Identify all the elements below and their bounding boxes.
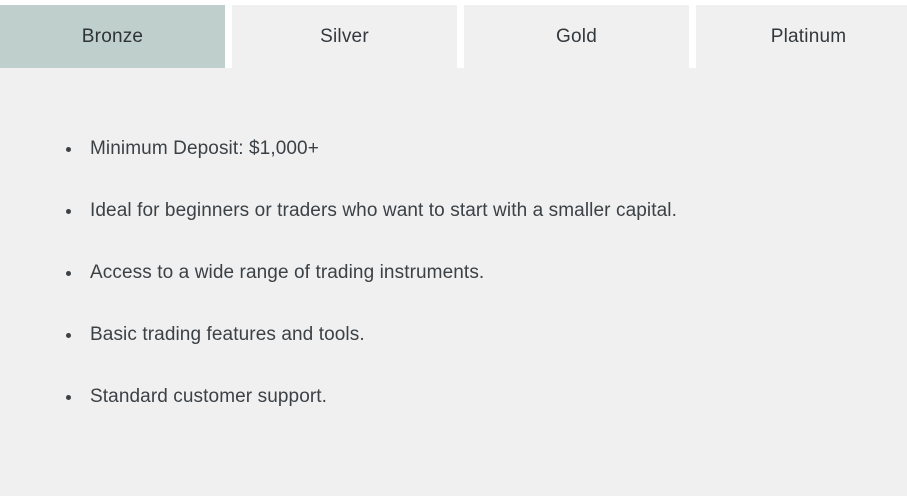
list-item: Standard customer support. [0, 386, 880, 448]
bullet-icon [66, 333, 71, 338]
tab-panel-bronze: Minimum Deposit: $1,000+ Ideal for begin… [0, 68, 907, 496]
tab-bronze[interactable]: Bronze [0, 5, 225, 68]
feature-text: Basic trading features and tools. [90, 324, 365, 346]
tab-silver-label: Silver [320, 27, 369, 46]
tab-list: Bronze Silver Gold Platinum [0, 5, 895, 68]
bullet-icon [66, 147, 71, 152]
list-item: Minimum Deposit: $1,000+ [0, 138, 880, 200]
feature-text: Access to a wide range of trading instru… [90, 262, 484, 284]
bullet-icon [66, 271, 71, 276]
bullet-icon [66, 209, 71, 214]
tab-platinum-label: Platinum [771, 27, 847, 46]
feature-text: Ideal for beginners or traders who want … [90, 200, 677, 222]
list-item: Access to a wide range of trading instru… [0, 262, 880, 324]
tab-gold-label: Gold [556, 27, 597, 46]
bullet-icon [66, 395, 71, 400]
feature-list: Minimum Deposit: $1,000+ Ideal for begin… [0, 138, 880, 448]
feature-text: Minimum Deposit: $1,000+ [90, 138, 319, 160]
tab-silver[interactable]: Silver [232, 5, 457, 68]
list-item: Basic trading features and tools. [0, 324, 880, 386]
tab-gold[interactable]: Gold [464, 5, 689, 68]
tab-bronze-label: Bronze [82, 27, 143, 46]
list-item: Ideal for beginners or traders who want … [0, 200, 880, 262]
feature-text: Standard customer support. [90, 386, 327, 408]
account-tier-tabs-widget: Bronze Silver Gold Platinum Minimum Depo… [0, 0, 907, 496]
tab-platinum[interactable]: Platinum [696, 5, 907, 68]
